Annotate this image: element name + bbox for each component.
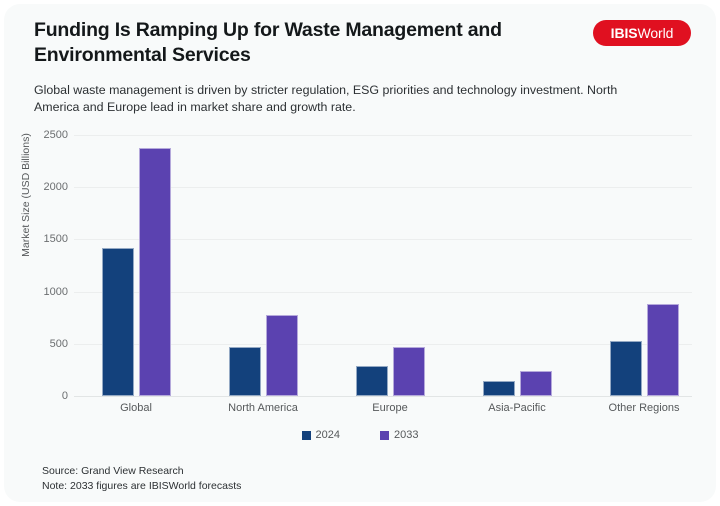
bar-2024-global[interactable]: [102, 248, 134, 396]
bar-2024-north-america[interactable]: [229, 347, 261, 396]
bar-2033-europe[interactable]: [393, 347, 425, 396]
y-axis-tick-label: 1000: [18, 286, 68, 298]
bar-2033-global[interactable]: [139, 148, 171, 396]
y-axis-tick-label: 2500: [18, 129, 68, 141]
x-axis-tick-label: Other Regions: [584, 402, 704, 414]
y-axis-tick-label: 2000: [18, 181, 68, 193]
bar-chart: Market Size (USD Billions) 0500100015002…: [4, 4, 716, 502]
source-line: Source: Grand View Research: [42, 464, 241, 479]
y-axis-tick-label: 500: [18, 338, 68, 350]
legend-swatch-icon: [302, 431, 311, 440]
x-axis-tick-label: Asia-Pacific: [457, 402, 577, 414]
x-axis-tick-label: Europe: [330, 402, 450, 414]
legend-item-2033[interactable]: 2033: [380, 429, 418, 441]
chart-card: Funding Is Ramping Up for Waste Manageme…: [4, 4, 716, 502]
bar-2033-asia-pacific[interactable]: [520, 371, 552, 396]
bar-2024-europe[interactable]: [356, 366, 388, 396]
note-line: Note: 2033 figures are IBISWorld forecas…: [42, 479, 241, 494]
legend-label: 2024: [316, 429, 340, 441]
legend-label: 2033: [394, 429, 418, 441]
x-axis-tick-label: North America: [203, 402, 323, 414]
y-axis-tick-label: 1500: [18, 233, 68, 245]
x-axis-tick-label: Global: [76, 402, 196, 414]
y-axis-tick-label: 0: [18, 390, 68, 402]
chart-legend: 20242033: [4, 429, 716, 441]
bar-2024-asia-pacific[interactable]: [483, 381, 515, 396]
footer-notes: Source: Grand View Research Note: 2033 f…: [42, 464, 241, 494]
gridline: [74, 396, 692, 397]
legend-item-2024[interactable]: 2024: [302, 429, 340, 441]
y-axis-label: Market Size (USD Billions): [20, 95, 32, 295]
bar-2033-north-america[interactable]: [266, 315, 298, 396]
bar-2024-other-regions[interactable]: [610, 341, 642, 396]
bar-2033-other-regions[interactable]: [647, 304, 679, 396]
legend-swatch-icon: [380, 431, 389, 440]
gridline: [74, 135, 692, 136]
